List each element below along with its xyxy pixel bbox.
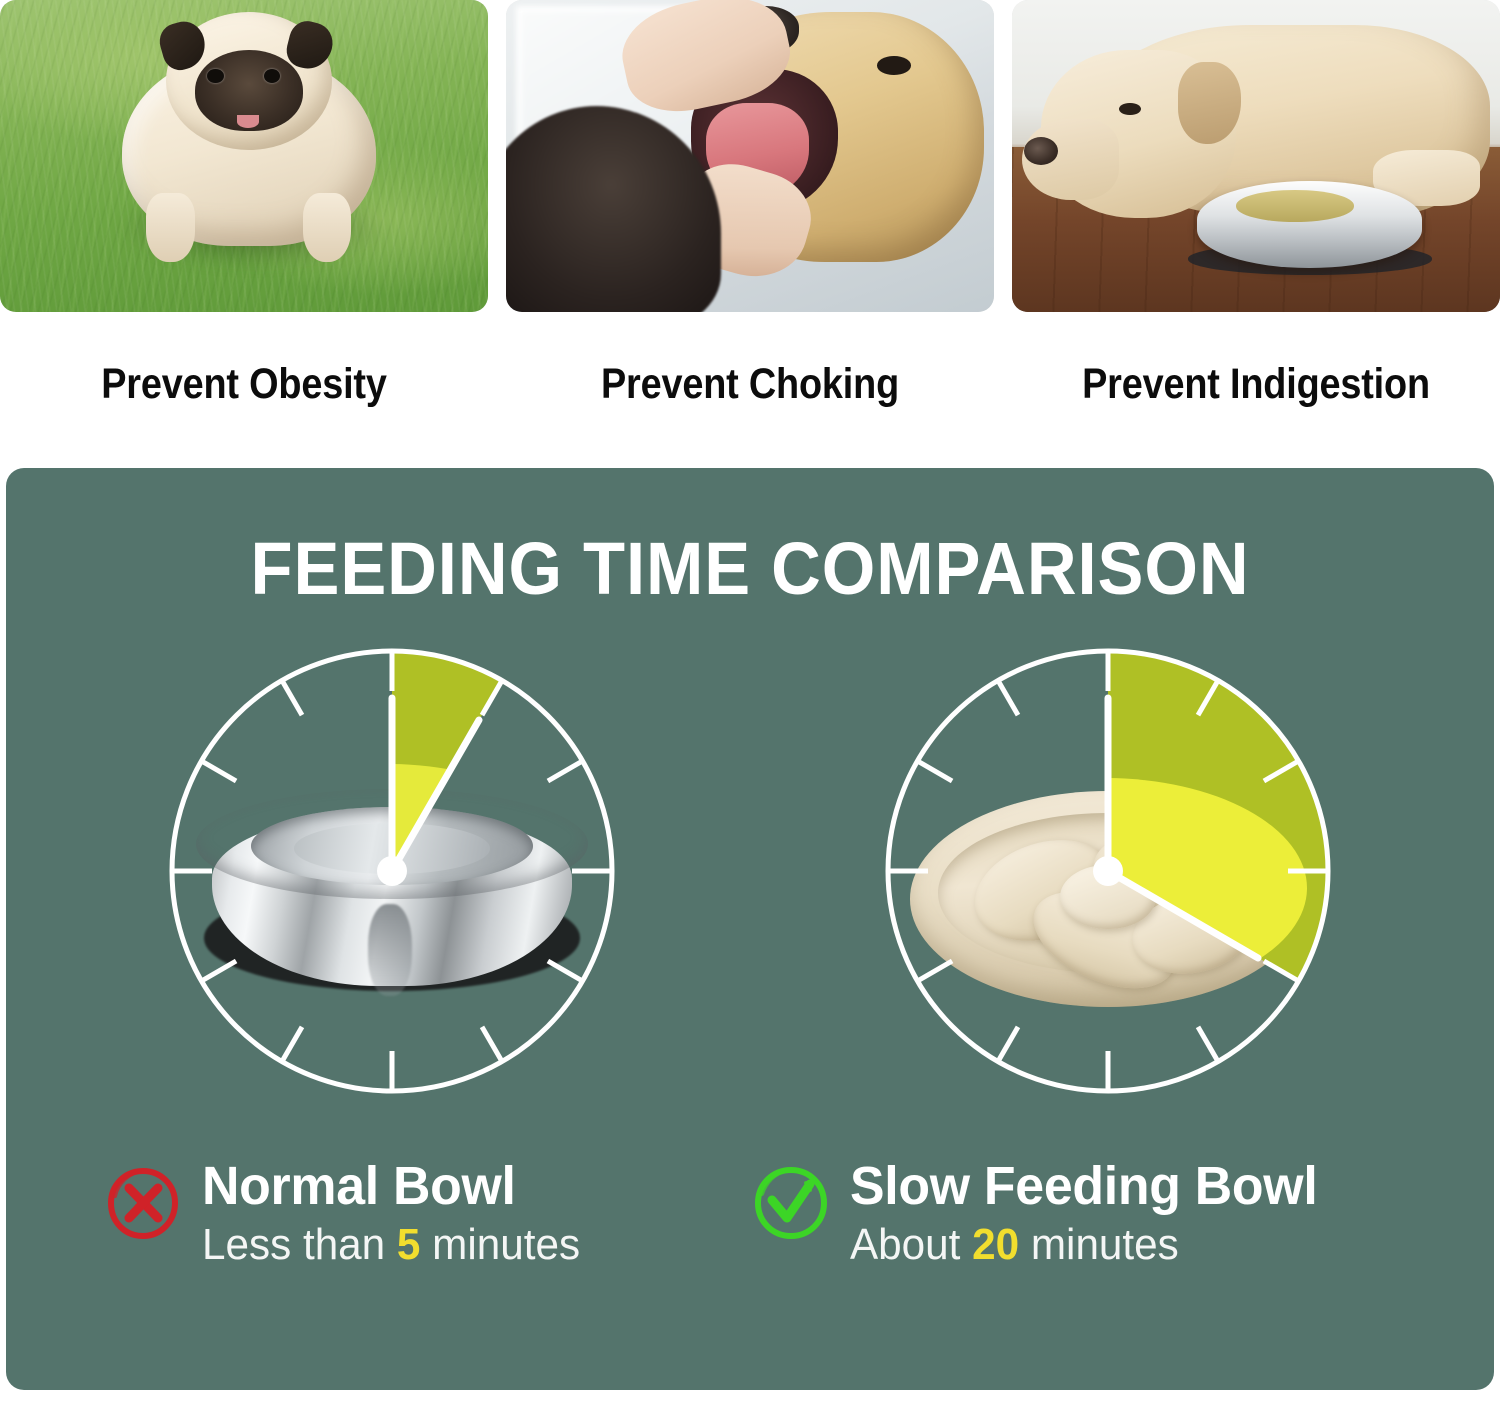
slow-bowl-sub-prefix: About bbox=[850, 1220, 960, 1269]
clock-comparison-row bbox=[6, 636, 1494, 1106]
bowl-food bbox=[1236, 190, 1353, 221]
feeding-comparison-panel: FEEDING TIME COMPARISON bbox=[6, 468, 1494, 1390]
normal-bowl-minutes-value: 5 bbox=[397, 1220, 421, 1269]
normal-bowl-sub-prefix: Less than bbox=[202, 1220, 385, 1269]
dial-center-cap bbox=[377, 856, 407, 886]
slow-bowl-sub-suffix: minutes bbox=[1031, 1220, 1179, 1269]
photo-card-indigestion bbox=[1012, 0, 1500, 312]
label-block-normal-bowl: Normal Bowl Less than 5 minutes bbox=[106, 1158, 596, 1272]
normal-bowl-subtitle: Less than 5 minutes bbox=[202, 1218, 580, 1272]
slow-bowl-subtitle: About 20 minutes bbox=[850, 1218, 1317, 1272]
pug-tongue bbox=[237, 115, 259, 127]
photo-caption-row: Prevent Obesity Prevent Choking Prevent … bbox=[0, 336, 1500, 432]
pug-eye-left bbox=[207, 69, 224, 83]
clock-slow-feeding-bowl bbox=[818, 636, 1398, 1106]
normal-bowl-sub-suffix: minutes bbox=[432, 1220, 580, 1269]
check-circle-icon bbox=[754, 1166, 828, 1245]
label-text-normal-bowl: Normal Bowl Less than 5 minutes bbox=[202, 1158, 596, 1272]
slow-bowl-title: Slow Feeding Bowl bbox=[850, 1158, 1317, 1214]
panel-title: FEEDING TIME COMPARISON bbox=[58, 526, 1442, 611]
caption-prevent-choking: Prevent Choking bbox=[535, 336, 964, 432]
photo-card-choking bbox=[506, 0, 994, 312]
cross-circle-icon bbox=[106, 1166, 180, 1245]
retriever-eye bbox=[877, 56, 911, 75]
pug-leg-left bbox=[146, 193, 195, 262]
pug-leg-right bbox=[303, 193, 352, 262]
pug-eye-right bbox=[264, 69, 281, 83]
slow-bowl-dial bbox=[873, 636, 1343, 1106]
dial-center-cap bbox=[1093, 856, 1123, 886]
label-text-slow-feeding-bowl: Slow Feeding Bowl About 20 minutes bbox=[850, 1158, 1337, 1272]
slow-bowl-minutes-value: 20 bbox=[972, 1220, 1019, 1269]
caption-prevent-obesity: Prevent Obesity bbox=[29, 336, 458, 432]
normal-bowl-dial bbox=[157, 636, 627, 1106]
label-block-slow-feeding-bowl: Slow Feeding Bowl About 20 minutes bbox=[754, 1158, 1337, 1272]
normal-bowl-title: Normal Bowl bbox=[202, 1158, 580, 1214]
comparison-label-row: Normal Bowl Less than 5 minutes Slow Fee… bbox=[6, 1158, 1494, 1308]
clock-normal-bowl bbox=[102, 636, 682, 1106]
top-photo-strip bbox=[0, 0, 1500, 312]
photo-card-obesity bbox=[0, 0, 488, 312]
caption-prevent-indigestion: Prevent Indigestion bbox=[1041, 336, 1470, 432]
